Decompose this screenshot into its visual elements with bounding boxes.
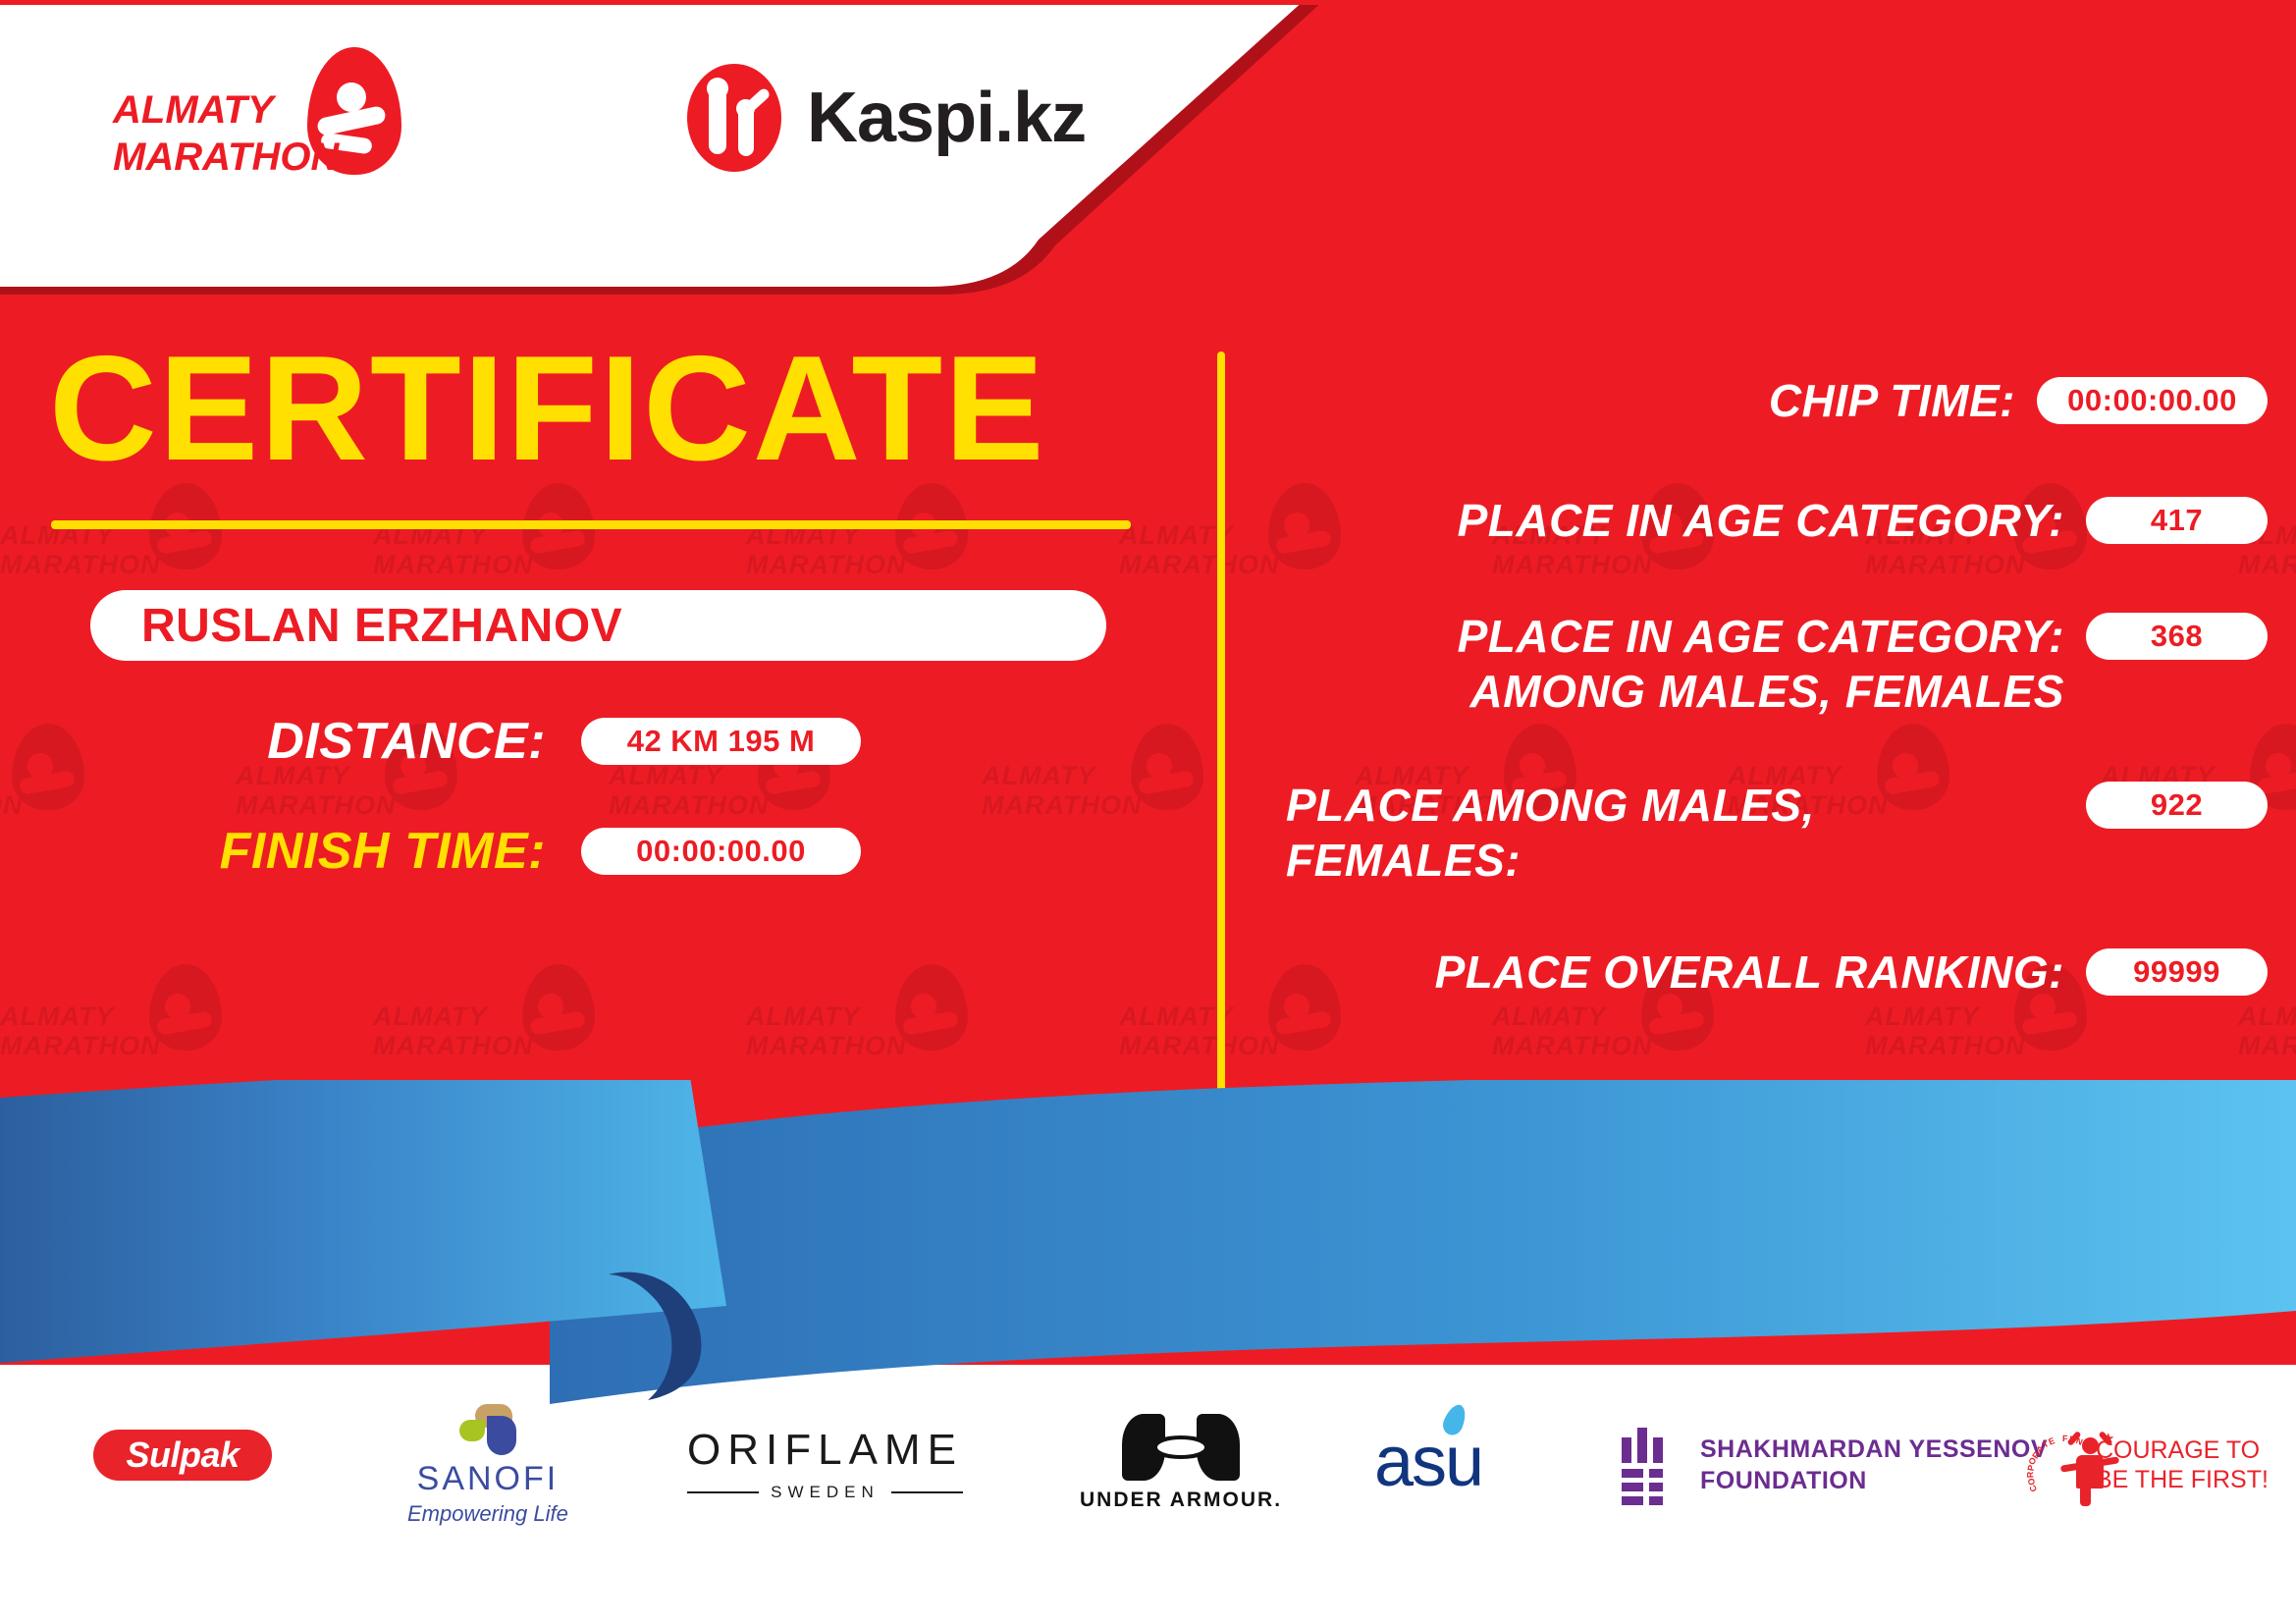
asu-text: asu [1374,1423,1482,1501]
sulpak-logo: Sulpak [93,1430,272,1481]
overall-ranking-value: 99999 [2086,948,2268,996]
age-category-among-label-line1: PLACE IN AGE CATEGORY: [1276,609,2064,664]
oriflame-rule-right [891,1491,963,1493]
sponsor-oriflame: ORIFLAME SWEDEN [687,1426,963,1502]
results-column: CHIP TIME: 00:00:00.00 PLACE IN AGE CATE… [1276,373,2268,1039]
yessenov-name: SHAKHMARDAN YESSENOV [1700,1434,2048,1465]
age-category-among-value: 368 [2086,613,2268,660]
distance-row: DISTANCE: 42 KM 195 M [0,712,1168,771]
yessenov-wordmark: SHAKHMARDAN YESSENOV FOUNDATION [1700,1434,2048,1496]
result-row-chip-time: CHIP TIME: 00:00:00.00 [1276,373,2268,428]
age-category-among-label-line2: AMONG MALES, FEMALES [1276,664,2064,719]
result-row-age-category-among: PLACE IN AGE CATEGORY: AMONG MALES, FEMA… [1276,609,2268,719]
distance-value: 42 KM 195 M [581,718,861,765]
title-underline [51,520,1131,529]
sponsor-sanofi: SANOFI Empowering Life [407,1404,568,1527]
asu-wordmark: asu [1374,1422,1482,1502]
arc-char: R [2025,1472,2035,1479]
age-category-value: 417 [2086,497,2268,544]
place-among-value: 922 [2086,782,2268,829]
chip-time-value: 00:00:00.00 [2037,377,2268,424]
sponsor-asu: asu [1374,1422,1482,1502]
courage-fund-icon: CORPORATE FUND ★ [2027,1420,2082,1510]
oriflame-wordmark: ORIFLAME [687,1426,963,1475]
logo-line-2: MARATHON [113,134,339,181]
sanofi-wordmark: SANOFI [417,1460,560,1498]
sponsor-courage-fund: CORPORATE FUND ★ COURAGE TO BE THE FIRST… [2027,1420,2296,1510]
kaspi-logo: Kaspi.kz [687,59,1086,177]
chip-time-label: CHIP TIME: [1276,373,2037,428]
result-row-age-category: PLACE IN AGE CATEGORY: 417 [1276,493,2268,548]
place-among-label-line1: PLACE AMONG MALES, [1286,778,2064,833]
result-row-overall: PLACE OVERALL RANKING: 99999 [1276,945,2268,1000]
finish-time-row: FINISH TIME: 00:00:00.00 [0,822,1168,881]
sponsor-bar: Sulpak SANOFI Empowering Life ORIFLAME S… [0,1414,2296,1624]
certificate-page: ALMATYMARATHONALMATYMARATHONALMATYMARATH… [0,0,2296,1624]
kaspi-wordmark: Kaspi.kz [807,78,1086,158]
sponsor-under-armour: UNDER ARMOUR. [1080,1414,1282,1512]
oriflame-tagline-row: SWEDEN [687,1483,963,1502]
logo-line-1: ALMATY [113,86,339,134]
sponsor-sulpak: Sulpak [93,1430,272,1481]
courage-fund-tagline: COURAGE TO BE THE FIRST! [2096,1435,2296,1494]
participant-name-field: RUSLAN ERZHANOV [90,590,1106,661]
kaspi-family-icon [687,64,781,172]
yessenov-mark-icon [1620,1424,1679,1506]
oriflame-tagline: SWEDEN [771,1483,880,1502]
logo-row: ALMATY MARATHON Kaspi.kz [0,0,1178,265]
age-category-among-label: PLACE IN AGE CATEGORY: AMONG MALES, FEMA… [1276,609,2086,719]
almaty-marathon-wordmark: ALMATY MARATHON [113,86,339,181]
distance-label: DISTANCE: [0,712,546,771]
age-category-label: PLACE IN AGE CATEGORY: [1276,493,2086,548]
sanofi-mark-icon [457,1404,518,1455]
header-band: ALMATY MARATHON Kaspi.kz [0,0,2296,324]
certificate-left-column: CERTIFICATE RUSLAN ERZHANOV DISTANCE: 42… [0,334,1168,881]
oriflame-rule-left [687,1491,759,1493]
sanofi-tagline: Empowering Life [407,1501,568,1527]
place-among-label-line2: FEMALES: [1286,833,2064,888]
result-row-place-among: PLACE AMONG MALES, FEMALES: 922 [1276,778,2268,888]
overall-ranking-label: PLACE OVERALL RANKING: [1276,945,2086,1000]
almaty-marathon-logo: ALMATY MARATHON [113,47,437,185]
participant-name-value: RUSLAN ERZHANOV [141,599,622,653]
sponsor-yessenov-foundation: SHAKHMARDAN YESSENOV FOUNDATION [1620,1424,2048,1506]
under-armour-icon [1122,1414,1240,1481]
finish-time-label: FINISH TIME: [0,822,546,881]
under-armour-wordmark: UNDER ARMOUR. [1080,1489,1282,1512]
finish-time-value: 00:00:00.00 [581,828,861,875]
column-divider [1217,352,1225,1098]
page-title: CERTIFICATE [49,334,1168,483]
place-among-label: PLACE AMONG MALES, FEMALES: [1276,778,2086,888]
yessenov-tagline: FOUNDATION [1700,1465,2048,1496]
